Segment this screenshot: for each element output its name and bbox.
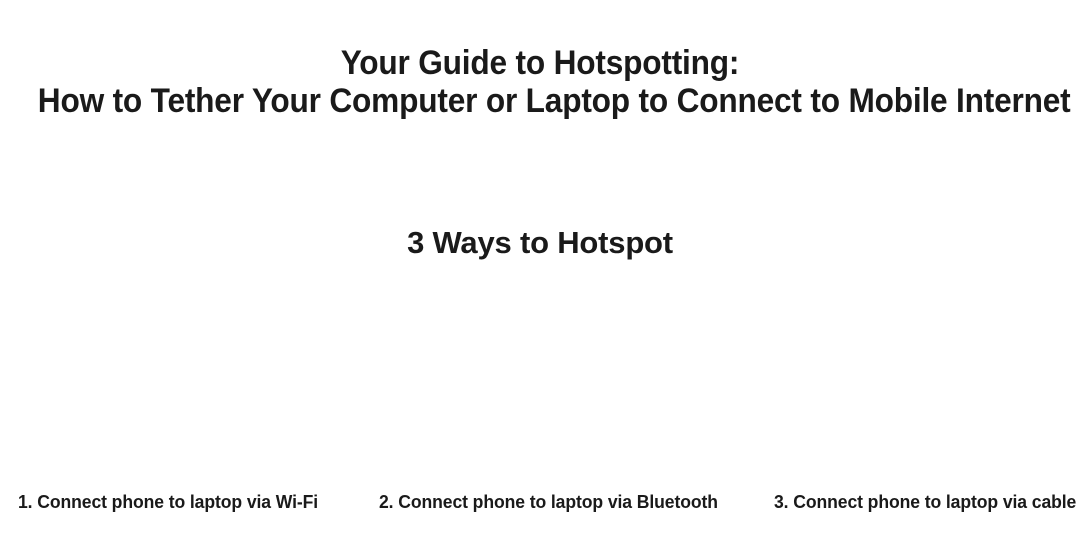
cable-tethering-illustration <box>720 285 1080 475</box>
section-heading: 3 Ways to Hotspot <box>0 224 1080 262</box>
wifi-tethering-illustration <box>0 285 360 475</box>
method-caption-2: 2. Connect phone to laptop via Bluetooth <box>360 488 720 516</box>
method-caption-2-text: 2. Connect phone to laptop via Bluetooth <box>379 488 718 516</box>
page-title-line-2: How to Tether Your Computer or Laptop to… <box>38 82 1042 120</box>
page-title: Your Guide to Hotspotting: How to Tether… <box>0 44 1080 120</box>
method-caption-1-text: 1. Connect phone to laptop via Wi-Fi <box>18 488 318 516</box>
method-caption-3: 3. Connect phone to laptop via cable <box>720 488 1080 516</box>
page-title-line-1: Your Guide to Hotspotting: <box>38 44 1042 82</box>
illustration-row <box>0 285 1080 475</box>
caption-row: 1. Connect phone to laptop via Wi-Fi 2. … <box>0 488 1080 516</box>
bluetooth-tethering-illustration <box>360 285 720 475</box>
method-caption-1: 1. Connect phone to laptop via Wi-Fi <box>0 488 360 516</box>
article-page: Your Guide to Hotspotting: How to Tether… <box>0 0 1080 552</box>
method-caption-3-text: 3. Connect phone to laptop via cable <box>774 488 1076 516</box>
